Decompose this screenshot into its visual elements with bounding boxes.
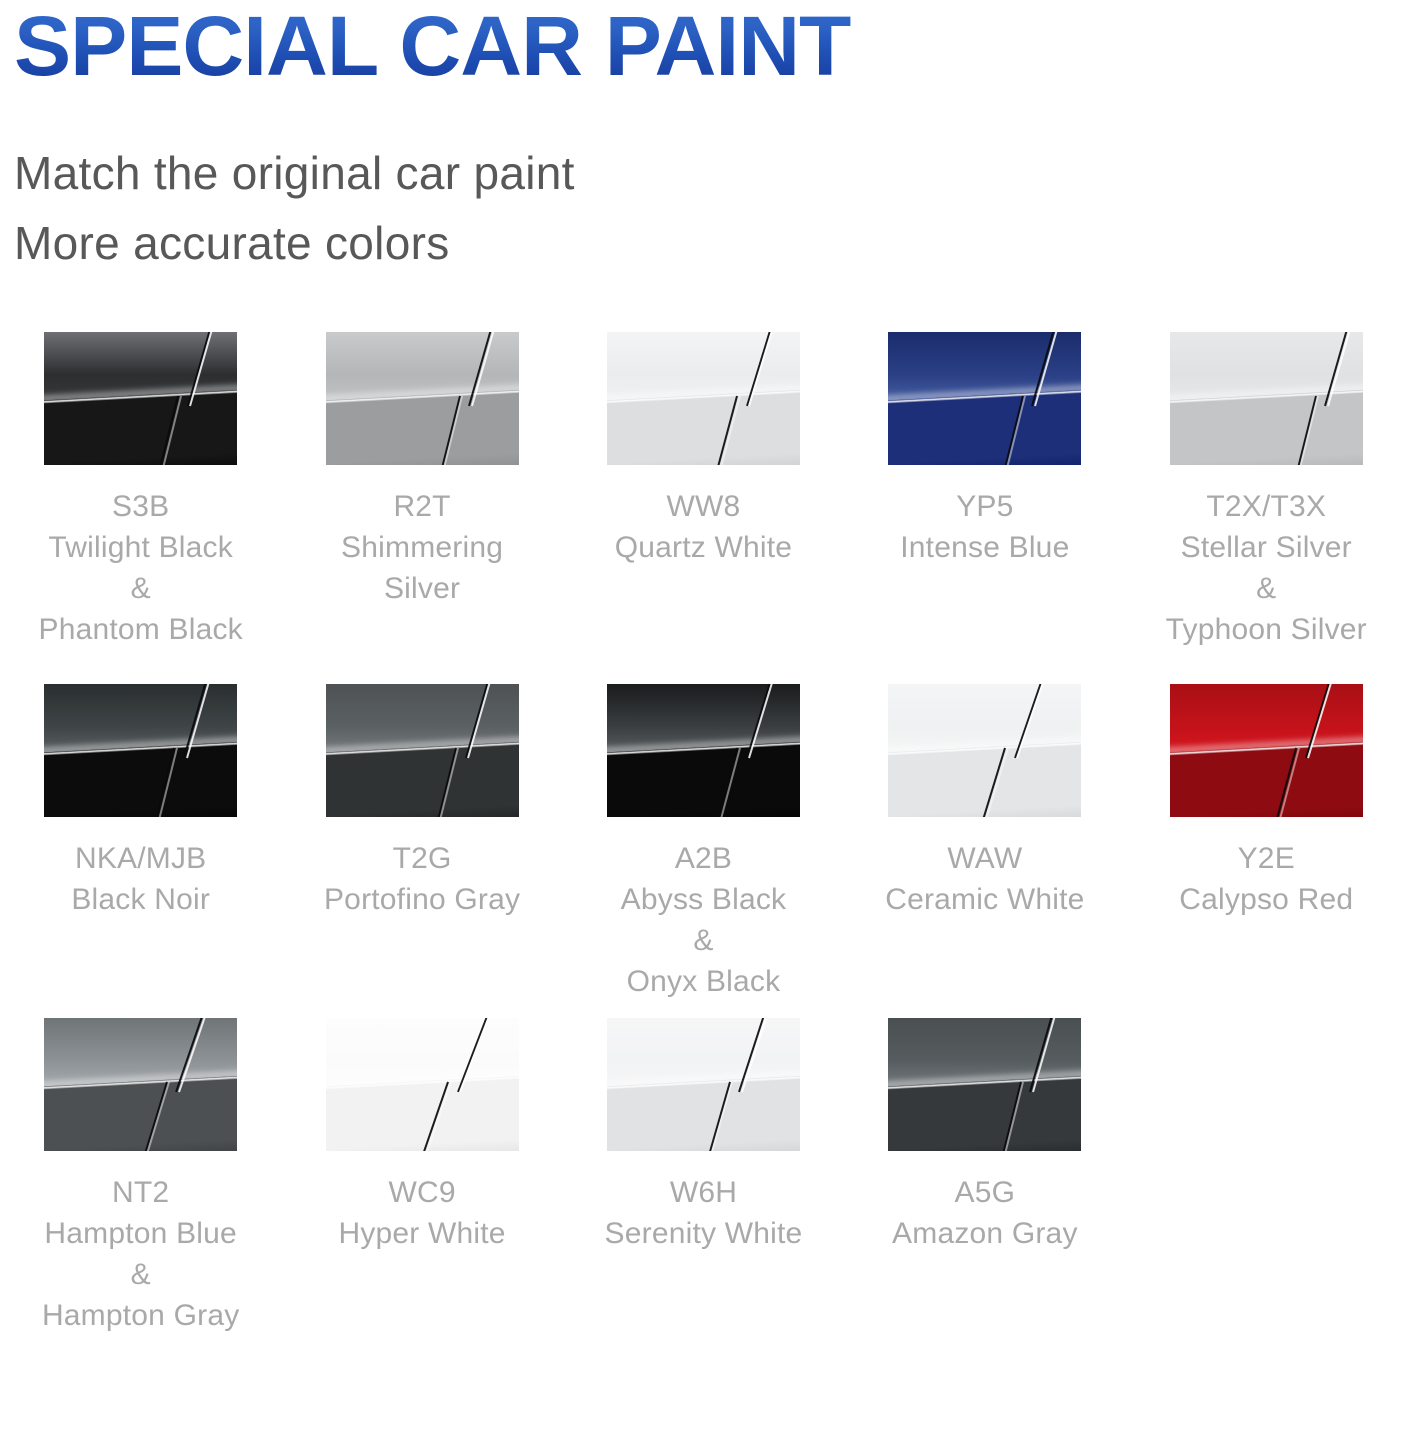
paint-swatch-cell-waw[interactable]: WAWCeramic White [844, 684, 1125, 920]
car-panel-image [607, 332, 800, 465]
paint-swatch-cell-w6h[interactable]: W6HSerenity White [563, 1018, 844, 1254]
car-panel-image [888, 332, 1081, 465]
subtitle-block: Match the original car paint More accura… [14, 138, 1407, 278]
paint-name: Typhoon Silver [1126, 609, 1407, 650]
car-panel-image [1170, 332, 1363, 465]
paint-swatch-cell-nka-mjb[interactable]: NKA/MJBBlack Noir [0, 684, 281, 920]
car-panel-image [888, 684, 1081, 817]
paint-label: R2TShimmeringSilver [282, 486, 563, 609]
paint-code: YP5 [844, 486, 1125, 527]
paint-swatch-cell-ww8[interactable]: WW8Quartz White [563, 332, 844, 568]
page-title: SPECIAL CAR PAINT [14, 0, 1407, 90]
car-panel-image [888, 1018, 1081, 1151]
paint-label: WC9Hyper White [282, 1172, 563, 1254]
paint-name: Hyper White [282, 1213, 563, 1254]
paint-code: NKA/MJB [0, 838, 281, 879]
car-panel-image [607, 1018, 800, 1151]
paint-name-separator: & [1126, 568, 1407, 609]
paint-swatch-cell-r2t[interactable]: R2TShimmeringSilver [281, 332, 562, 609]
paint-name: Ceramic White [844, 879, 1125, 920]
paint-name: Quartz White [563, 527, 844, 568]
car-panel-image [1170, 684, 1363, 817]
paint-name: Hampton Blue [0, 1213, 281, 1254]
paint-label: YP5Intense Blue [844, 486, 1125, 568]
paint-code: R2T [282, 486, 563, 527]
page-header: SPECIAL CAR PAINT Match the original car… [0, 0, 1407, 278]
paint-code: S3B [0, 486, 281, 527]
paint-swatch-cell-a2b[interactable]: A2BAbyss Black&Onyx Black [563, 684, 844, 1002]
paint-swatch-cell-yp5[interactable]: YP5Intense Blue [844, 332, 1125, 568]
paint-code: NT2 [0, 1172, 281, 1213]
subtitle-line-2: More accurate colors [14, 208, 1407, 278]
paint-name: Stellar Silver [1126, 527, 1407, 568]
paint-label: WAWCeramic White [844, 838, 1125, 920]
paint-code: A2B [563, 838, 844, 879]
paint-code: WAW [844, 838, 1125, 879]
paint-swatch-cell-wc9[interactable]: WC9Hyper White [281, 1018, 562, 1254]
paint-swatch-cell-y2e[interactable]: Y2ECalypso Red [1126, 684, 1407, 920]
paint-name: Onyx Black [563, 961, 844, 1002]
paint-label: A2BAbyss Black&Onyx Black [563, 838, 844, 1002]
swatch-row: S3BTwilight Black&Phantom BlackR2TShimme… [0, 332, 1407, 650]
paint-name-separator: & [0, 1254, 281, 1295]
paint-label: S3BTwilight Black&Phantom Black [0, 486, 281, 650]
paint-label: T2GPortofino Gray [282, 838, 563, 920]
paint-label: NT2Hampton Blue&Hampton Gray [0, 1172, 281, 1336]
paint-name: Twilight Black [0, 527, 281, 568]
swatch-row: NT2Hampton Blue&Hampton GrayWC9Hyper Whi… [0, 1018, 1407, 1336]
paint-name: Black Noir [0, 879, 281, 920]
paint-name: Shimmering [282, 527, 563, 568]
car-panel-image [326, 332, 519, 465]
paint-swatch-cell-s3b[interactable]: S3BTwilight Black&Phantom Black [0, 332, 281, 650]
paint-swatch-grid: S3BTwilight Black&Phantom BlackR2TShimme… [0, 332, 1407, 1336]
paint-code: A5G [844, 1172, 1125, 1213]
car-panel-image [326, 1018, 519, 1151]
paint-label: WW8Quartz White [563, 486, 844, 568]
paint-label: W6HSerenity White [563, 1172, 844, 1254]
paint-name: Phantom Black [0, 609, 281, 650]
paint-swatch-cell-t2x-t3x[interactable]: T2X/T3XStellar Silver&Typhoon Silver [1126, 332, 1407, 650]
swatch-row: NKA/MJBBlack NoirT2GPortofino GrayA2BAby… [0, 684, 1407, 1002]
paint-label: Y2ECalypso Red [1126, 838, 1407, 920]
car-panel-image [607, 684, 800, 817]
paint-code: T2G [282, 838, 563, 879]
paint-name: Calypso Red [1126, 879, 1407, 920]
paint-swatch-cell-a5g[interactable]: A5GAmazon Gray [844, 1018, 1125, 1254]
paint-name: Abyss Black [563, 879, 844, 920]
paint-code: Y2E [1126, 838, 1407, 879]
paint-code: W6H [563, 1172, 844, 1213]
paint-code: WW8 [563, 486, 844, 527]
car-panel-image [44, 684, 237, 817]
paint-code: T2X/T3X [1126, 486, 1407, 527]
paint-label: NKA/MJBBlack Noir [0, 838, 281, 920]
paint-name-separator: & [563, 920, 844, 961]
paint-name: Silver [282, 568, 563, 609]
paint-name: Hampton Gray [0, 1295, 281, 1336]
car-panel-image [44, 1018, 237, 1151]
paint-name: Intense Blue [844, 527, 1125, 568]
paint-name: Serenity White [563, 1213, 844, 1254]
paint-name: Portofino Gray [282, 879, 563, 920]
paint-label: A5GAmazon Gray [844, 1172, 1125, 1254]
paint-swatch-cell-nt2[interactable]: NT2Hampton Blue&Hampton Gray [0, 1018, 281, 1336]
paint-name: Amazon Gray [844, 1213, 1125, 1254]
paint-name-separator: & [0, 568, 281, 609]
paint-label: T2X/T3XStellar Silver&Typhoon Silver [1126, 486, 1407, 650]
car-panel-image [44, 332, 237, 465]
subtitle-line-1: Match the original car paint [14, 138, 1407, 208]
paint-swatch-cell-t2g[interactable]: T2GPortofino Gray [281, 684, 562, 920]
paint-code: WC9 [282, 1172, 563, 1213]
car-panel-image [326, 684, 519, 817]
